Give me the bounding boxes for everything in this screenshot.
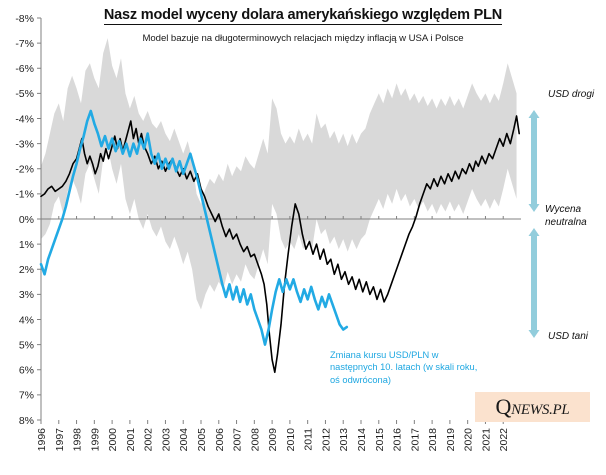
x-axis-label: 2017 xyxy=(409,428,421,452)
x-axis-label: 2021 xyxy=(480,428,492,452)
y-axis-label: -1% xyxy=(15,189,34,201)
arrow-usd-cheap xyxy=(529,228,540,338)
y-axis-label: 8% xyxy=(19,415,34,427)
qnews-logo: QNEWS.PL xyxy=(475,392,590,422)
y-axis-label: 2% xyxy=(19,264,34,276)
x-axis-label: 2010 xyxy=(285,428,297,452)
y-axis-label: -4% xyxy=(15,113,34,125)
x-axis-label: 2007 xyxy=(232,428,244,452)
x-axis-label: 2016 xyxy=(392,428,404,452)
y-axis-label: 7% xyxy=(19,390,34,402)
x-axis-label: 1998 xyxy=(72,428,84,452)
arrow-usd-expensive-head-up xyxy=(529,110,540,118)
x-axis-label: 2015 xyxy=(374,428,386,452)
x-axis-label: 2008 xyxy=(249,428,261,452)
x-axis-label: 2020 xyxy=(463,428,475,452)
x-axis-label: 2019 xyxy=(445,428,457,452)
x-axis-label: 2001 xyxy=(125,428,137,452)
x-axis-label: 2013 xyxy=(338,428,350,452)
forward-series-note: Zmiana kursu USD/PLN w następnych 10. la… xyxy=(330,349,480,386)
y-axis-label: 0% xyxy=(19,214,34,226)
y-axis-label: -3% xyxy=(15,138,34,150)
x-axis-label: 1999 xyxy=(89,428,101,452)
x-axis-label: 2002 xyxy=(143,428,155,452)
y-axis-label: -8% xyxy=(15,13,34,25)
logo-rest-text: NEWS.PL xyxy=(511,402,569,418)
y-axis-label: 1% xyxy=(19,239,34,251)
y-axis-label: 6% xyxy=(19,365,34,377)
y-axis-label: -6% xyxy=(15,63,34,75)
x-axis-label: 2004 xyxy=(178,428,190,452)
y-axis-label: -7% xyxy=(15,38,34,50)
logo-q-letter: Q xyxy=(496,394,512,419)
arrow-usd-expensive xyxy=(529,110,540,212)
y-axis-label: -5% xyxy=(15,88,34,100)
y-axis-label: 3% xyxy=(19,289,34,301)
annotation-neutral-valuation: Wycena neutralna xyxy=(545,203,587,229)
y-axis-label: 5% xyxy=(19,339,34,351)
arrow-usd-cheap-head-down xyxy=(529,330,540,338)
x-axis-label: 2018 xyxy=(427,428,439,452)
annotation-usd-cheap: USD tani xyxy=(548,330,588,343)
x-axis-label: 2009 xyxy=(267,428,279,452)
arrow-usd-cheap-head-up xyxy=(529,228,540,236)
annotation-neutral-line1: Wycena xyxy=(545,203,587,216)
y-axis-label: 4% xyxy=(19,314,34,326)
x-axis-label: 2014 xyxy=(356,428,368,452)
x-axis-label: 1997 xyxy=(54,428,66,452)
x-axis-label: 2000 xyxy=(107,428,119,452)
annotation-neutral-line2: neutralna xyxy=(545,216,587,229)
x-axis-label: 2022 xyxy=(498,428,510,452)
logo-label: QNEWS.PL xyxy=(496,394,570,420)
annotation-usd-expensive: USD drogi xyxy=(548,88,594,101)
model-range-band xyxy=(41,38,517,309)
x-axis-label: 2003 xyxy=(160,428,172,452)
x-axis-label: 2006 xyxy=(214,428,226,452)
y-axis-label: -2% xyxy=(15,164,34,176)
x-axis-label: 2011 xyxy=(303,428,315,451)
x-axis-label: 2012 xyxy=(320,428,332,452)
chart-page: Nasz model wyceny dolara amerykańskiego … xyxy=(0,0,606,475)
x-axis-label: 1996 xyxy=(36,428,48,452)
x-axis-label: 2005 xyxy=(196,428,208,452)
arrow-usd-expensive-head-down xyxy=(529,204,540,212)
